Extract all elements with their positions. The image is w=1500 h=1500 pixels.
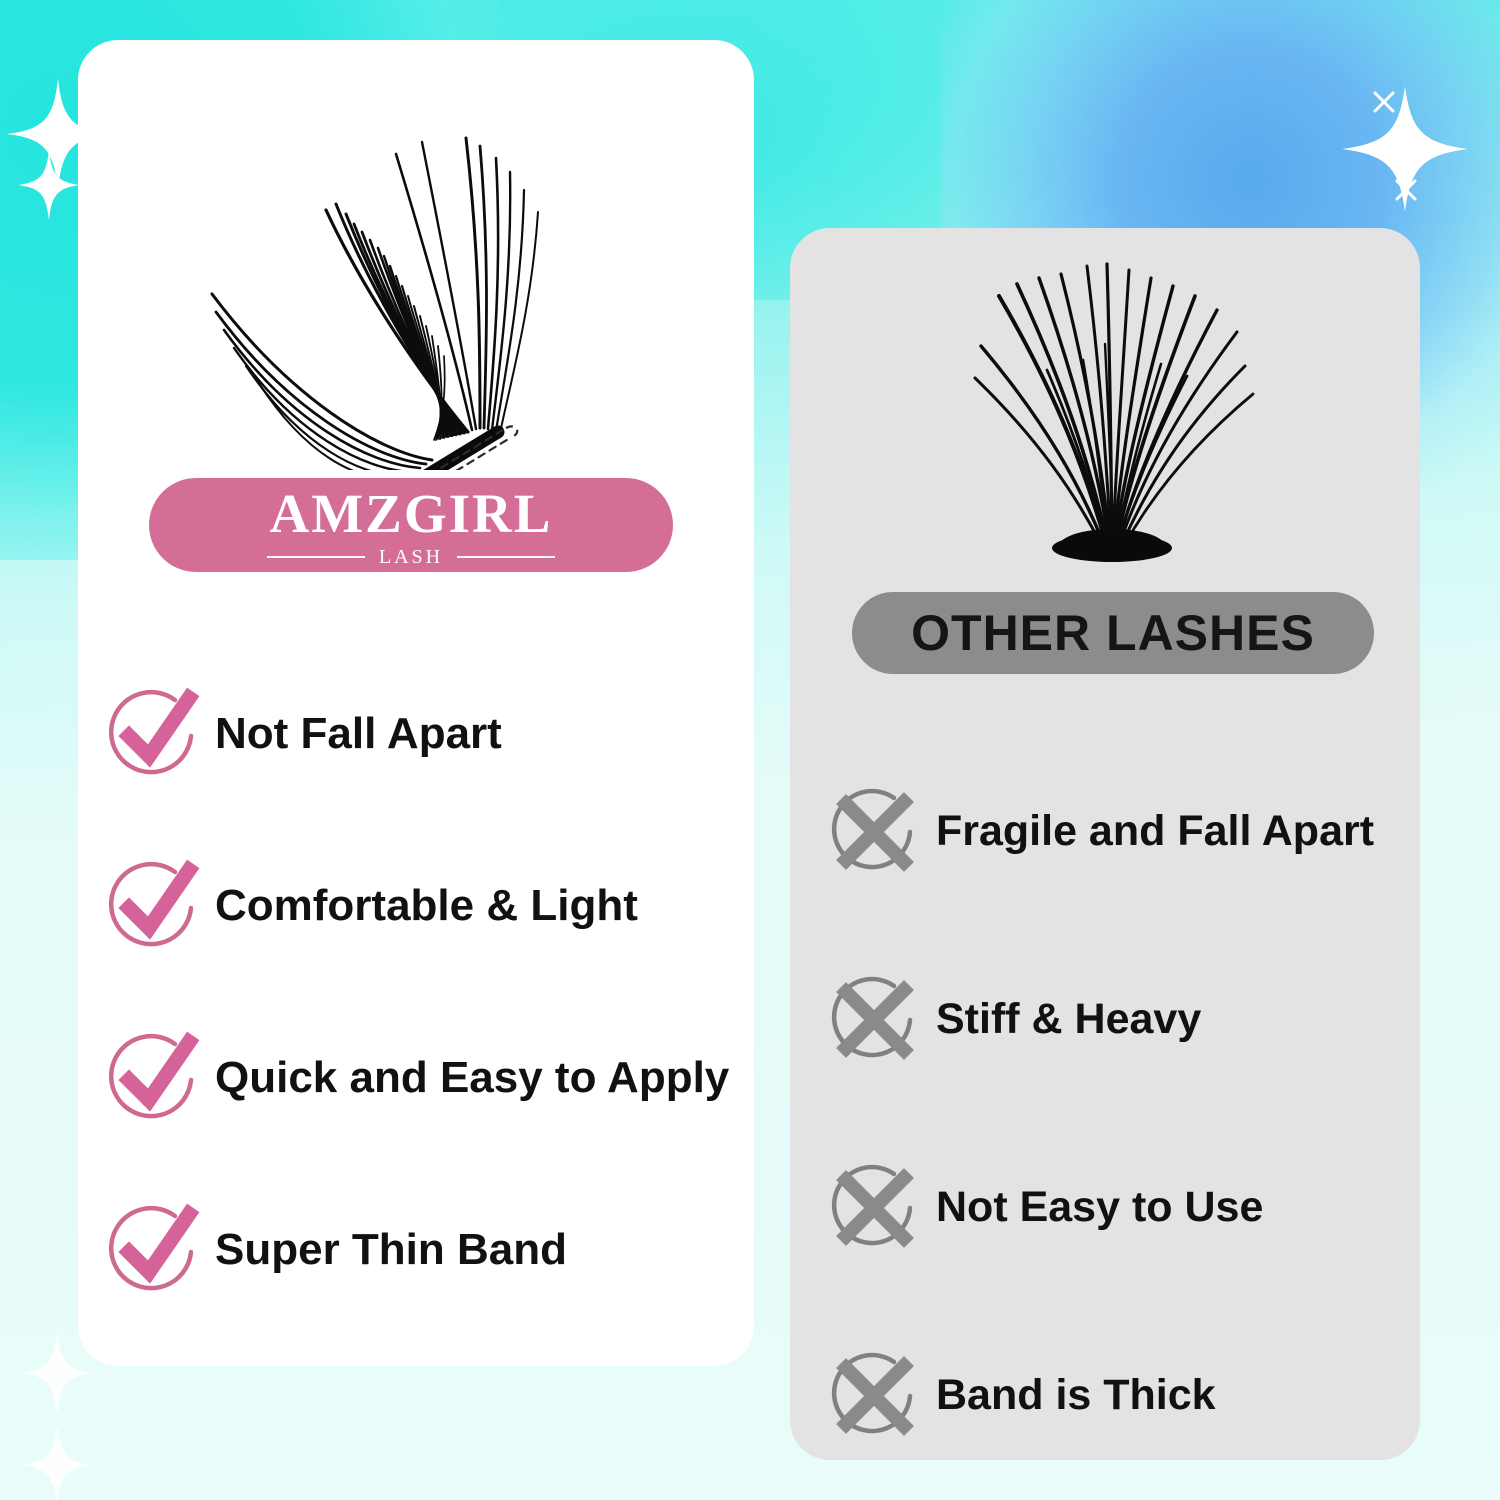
list-item: Comfortable & Light [105, 820, 765, 992]
list-item-label: Not Easy to Use [936, 1185, 1263, 1230]
brand-sub-row: LASH [267, 547, 555, 567]
check-circle-icon [105, 858, 201, 954]
other-lash-product-image [955, 248, 1265, 578]
list-item: Not Easy to Use [828, 1114, 1428, 1302]
x-circle-icon [828, 974, 920, 1066]
check-circle-icon [105, 1202, 201, 1298]
brand-feature-list: Not Fall Apart Comfortable & Light Quick… [105, 648, 765, 1336]
check-circle-icon [105, 686, 201, 782]
list-item: Fragile and Fall Apart [828, 738, 1428, 926]
sparkle-top-right-x-lower-icon [1392, 176, 1420, 204]
other-lashes-badge: OTHER LASHES [852, 592, 1374, 674]
list-item: Quick and Easy to Apply [105, 992, 765, 1164]
x-circle-icon [828, 1162, 920, 1254]
check-circle-icon [105, 1030, 201, 1126]
list-item: Not Fall Apart [105, 648, 765, 820]
list-item-label: Comfortable & Light [215, 883, 638, 929]
brand-badge: AMZGIRL LASH [149, 478, 673, 572]
infographic-stage: AMZGIRL LASH Not Fall Apart [0, 0, 1500, 1500]
list-item-label: Not Fall Apart [215, 711, 502, 757]
list-item: Super Thin Band [105, 1164, 765, 1336]
list-item-label: Super Thin Band [215, 1227, 567, 1273]
list-item-label: Band is Thick [936, 1373, 1216, 1418]
list-item-label: Stiff & Heavy [936, 997, 1201, 1042]
x-circle-icon [828, 1350, 920, 1442]
brand-rule-left [267, 556, 365, 558]
brand-name: AMZGIRL [270, 486, 553, 541]
sparkle-top-right-x-upper-icon [1370, 88, 1398, 116]
brand-rule-right [457, 556, 555, 558]
x-circle-icon [828, 786, 920, 878]
sparkle-bottom-left-lower-icon [22, 1426, 92, 1500]
other-feature-list: Fragile and Fall Apart Stiff & Heavy N [828, 738, 1428, 1490]
sparkle-top-left-small-icon [18, 150, 80, 220]
brand-sub: LASH [379, 547, 443, 567]
list-item: Band is Thick [828, 1302, 1428, 1490]
other-lashes-title: OTHER LASHES [911, 608, 1315, 658]
list-item-label: Quick and Easy to Apply [215, 1055, 729, 1101]
amzgirl-lash-product-image [150, 80, 570, 470]
list-item-label: Fragile and Fall Apart [936, 809, 1374, 854]
list-item: Stiff & Heavy [828, 926, 1428, 1114]
